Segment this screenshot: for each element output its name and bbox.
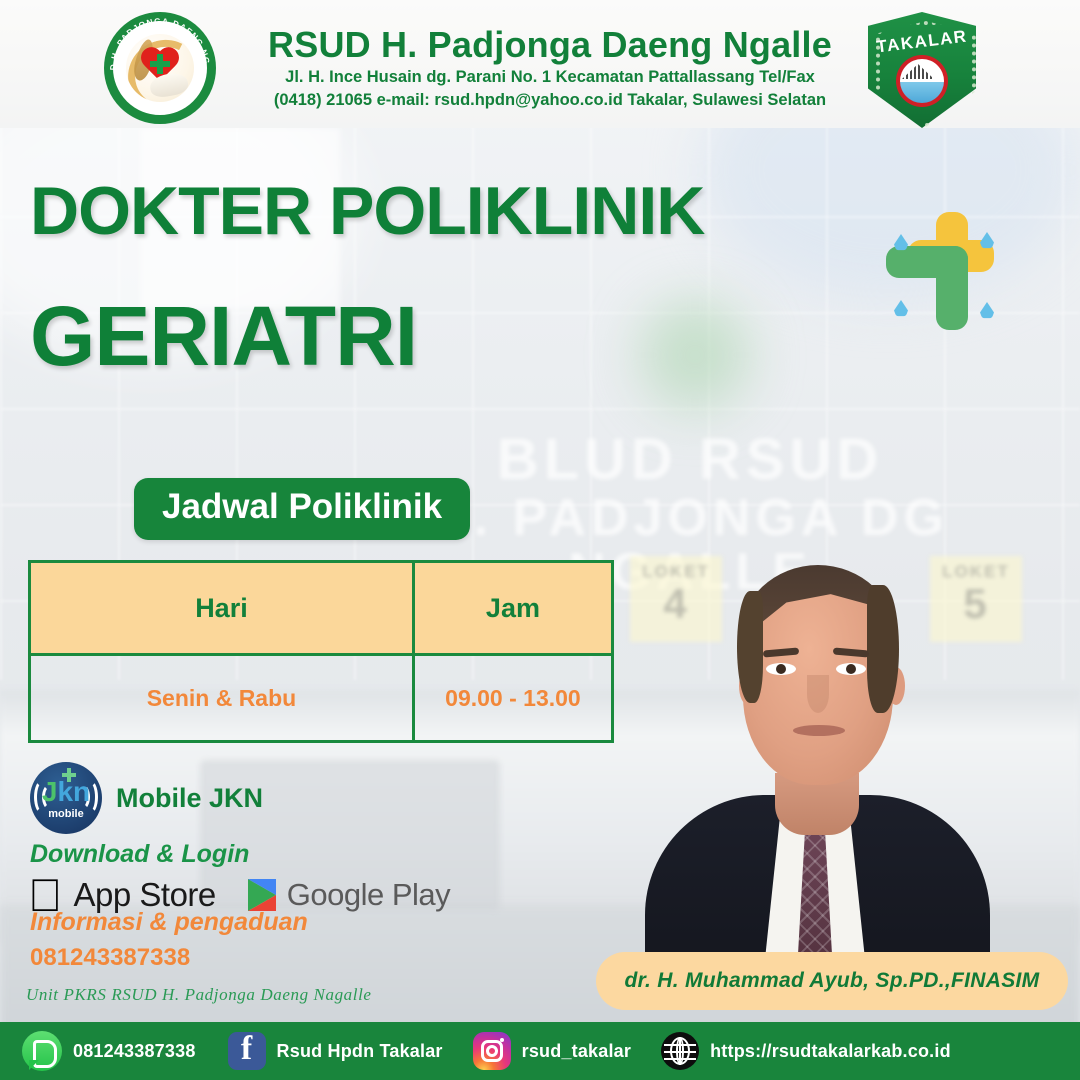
footer-website-label: https://rsudtakalarkab.co.id <box>710 1041 951 1062</box>
footer-whatsapp-label: 081243387338 <box>73 1041 196 1062</box>
doctor-eye <box>836 663 866 675</box>
doctor-hair-side <box>737 591 763 703</box>
footer-instagram[interactable]: rsud_takalar <box>473 1032 631 1070</box>
schedule-table-head: Hari Jam <box>30 562 613 655</box>
jkn-letters-kn: kn <box>57 776 90 807</box>
google-play-icon <box>248 879 276 911</box>
poster-canvas: BLUD RSUD H. PADJONGA DG NGALLE LOKET 4 … <box>0 0 1080 1080</box>
cross-green-shape <box>886 246 970 330</box>
jkn-letter-j: J <box>42 776 58 807</box>
doctor-hair-side <box>867 585 899 713</box>
footer-facebook-label: Rsud Hpdn Takalar <box>277 1041 443 1062</box>
hospital-logo-inner <box>126 34 194 102</box>
hospital-logo-icon: RSUD H. PADJONGA DAENG NGALLE · T A K A … <box>104 12 216 124</box>
footer-bar: 081243387338 f Rsud Hpdn Takalar rsud_ta… <box>0 1022 1080 1080</box>
hospital-address: Jl. H. Ince Husain dg. Parani No. 1 Keca… <box>210 66 890 113</box>
crest-emblem <box>896 55 948 107</box>
schedule-table: Hari Jam Senin & Rabu 09.00 - 13.00 <box>28 560 614 743</box>
doctor-name-banner: dr. H. Muhammad Ayub, Sp.PD.,FINASIM <box>596 952 1068 1010</box>
table-row: Senin & Rabu 09.00 - 13.00 <box>30 655 613 742</box>
bg-green-glow <box>640 300 750 410</box>
schedule-table-body: Senin & Rabu 09.00 - 13.00 <box>30 655 613 742</box>
doctor-pupil <box>846 664 856 674</box>
address-line-2: (0418) 21065 e-mail: rsud.hpdn@yahoo.co.… <box>210 89 890 112</box>
footer-website[interactable]: https://rsudtakalarkab.co.id <box>661 1032 951 1070</box>
column-header-jam: Jam <box>413 562 612 655</box>
info-complaint-label: Informasi & pengaduan <box>30 908 308 937</box>
table-header-row: Hari Jam <box>30 562 613 655</box>
cell-jam: 09.00 - 13.00 <box>413 655 612 742</box>
medical-cross-icon <box>150 54 170 74</box>
schedule-badge: Jadwal Poliklinik <box>134 478 470 540</box>
hospital-name: RSUD H. Padjonga Daeng Ngalle <box>230 24 870 66</box>
doctor-eye <box>766 663 796 675</box>
column-header-hari: Hari <box>30 562 414 655</box>
info-complaint-phone: 081243387338 <box>30 944 190 972</box>
address-line-1: Jl. H. Ince Husain dg. Parani No. 1 Keca… <box>210 66 890 89</box>
page-title-line2: GERIATRI <box>30 288 417 385</box>
doctor-pupil <box>776 664 786 674</box>
footer-whatsapp[interactable]: 081243387338 <box>22 1031 196 1071</box>
globe-icon <box>661 1032 699 1070</box>
droplet-icon <box>980 302 994 319</box>
bg-wall-text-line1: BLUD RSUD <box>410 430 970 491</box>
jkn-logo-text: Jkn <box>30 778 102 806</box>
footer-facebook[interactable]: f Rsud Hpdn Takalar <box>228 1032 443 1070</box>
jkn-logo-sub: mobile <box>30 808 102 820</box>
doctor-mouth <box>793 725 845 736</box>
takalar-crest-icon: TAKALAR <box>868 12 976 128</box>
droplet-icon <box>894 234 908 251</box>
instagram-icon <box>473 1032 511 1070</box>
facebook-icon: f <box>228 1032 266 1070</box>
doctor-nose <box>807 675 829 713</box>
mobile-jkn-logo-icon: Jkn mobile <box>30 762 102 834</box>
unit-credit-label: Unit PKRS RSUD H. Padjonga Daeng Nagalle <box>26 985 372 1005</box>
crest-emblem-inner <box>900 59 944 103</box>
mobile-jkn-row: Jkn mobile Mobile JKN <box>30 762 263 834</box>
whatsapp-icon <box>22 1031 62 1071</box>
decorative-medical-cross-icon <box>880 212 1000 330</box>
doctor-photo <box>615 525 1015 960</box>
header-bar: RSUD H. PADJONGA DAENG NGALLE · T A K A … <box>0 0 1080 128</box>
download-login-label: Download & Login <box>30 840 249 869</box>
mobile-jkn-label: Mobile JKN <box>116 783 263 814</box>
footer-instagram-label: rsud_takalar <box>522 1041 631 1062</box>
page-title-line1: DOKTER POLIKLINIK <box>30 172 704 250</box>
google-play-label: Google Play <box>287 877 450 913</box>
cell-hari: Senin & Rabu <box>30 655 414 742</box>
